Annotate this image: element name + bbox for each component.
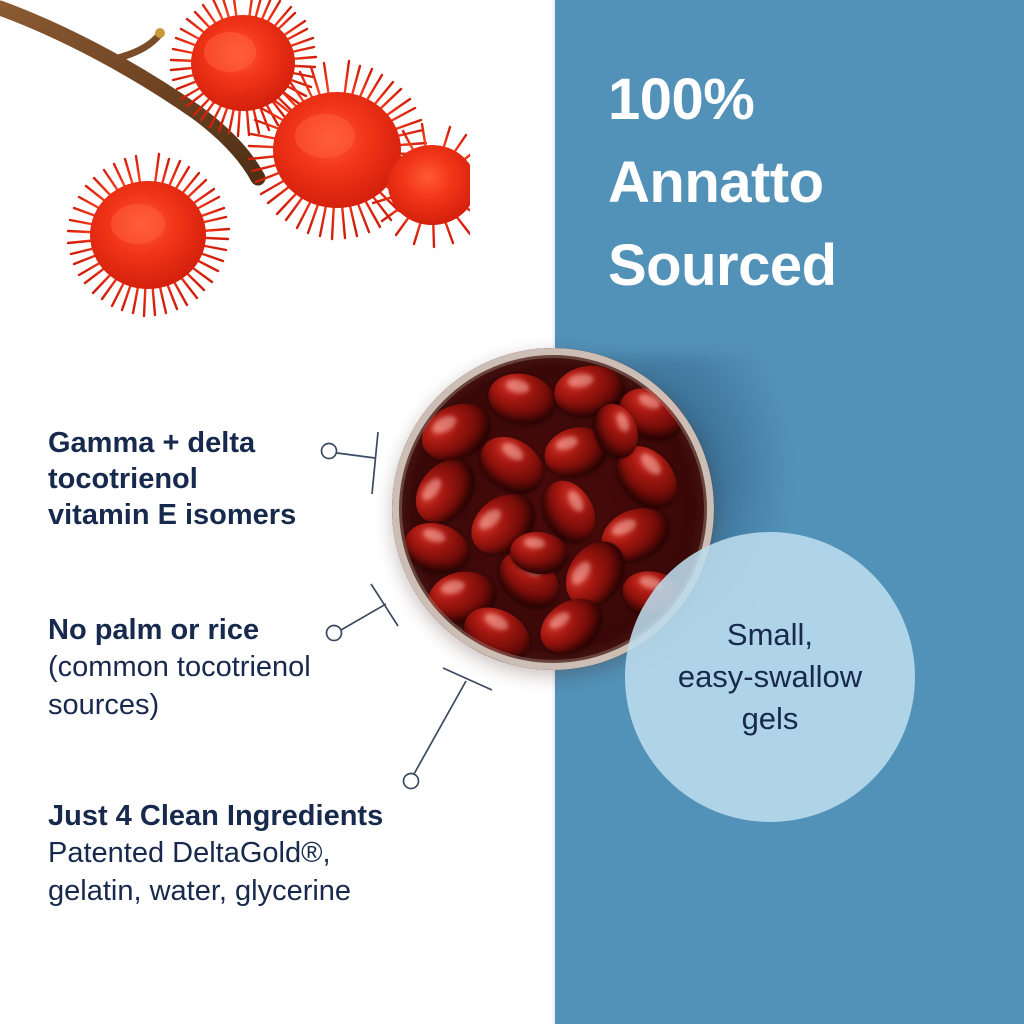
callout-1-line-1: Gamma + delta — [48, 425, 378, 461]
callout-no-palm-or-rice: No palm or rice (common tocotrienol sour… — [48, 612, 388, 724]
callout-2-line-1: No palm or rice — [48, 612, 388, 648]
badge-line-2: easy-swallow — [678, 656, 862, 698]
leader-dot-3 — [404, 774, 419, 789]
callout-tocotrienol-isomers: Gamma + delta tocotrienol vitamin E isom… — [48, 425, 378, 533]
callout-3-line-1: Just 4 Clean Ingredients — [48, 798, 498, 834]
headline: 100% Annatto Sourced — [608, 58, 1008, 307]
callout-3-sub-1: Patented DeltaGold®, — [48, 834, 498, 872]
callout-1-line-3: vitamin E isomers — [48, 497, 378, 533]
badge-line-1: Small, — [727, 614, 813, 656]
callout-2-sub-2: sources) — [48, 686, 388, 724]
leader-tick-3 — [443, 668, 492, 690]
headline-line-1: 100% — [608, 58, 1008, 141]
callout-2-sub-1: (common tocotrienol — [48, 648, 388, 686]
annatto-pods-image — [0, 0, 470, 330]
callout-1-line-2: tocotrienol — [48, 461, 378, 497]
headline-line-3: Sourced — [608, 224, 1008, 307]
easy-swallow-badge-text: Small, easy-swallow gels — [625, 532, 915, 822]
infographic-canvas: Small, easy-swallow gels 100% Annatto So… — [0, 0, 1024, 1024]
badge-line-3: gels — [742, 698, 799, 740]
callout-clean-ingredients: Just 4 Clean Ingredients Patented DeltaG… — [48, 798, 498, 910]
headline-line-2: Annatto — [608, 141, 1008, 224]
callout-3-sub-2: gelatin, water, glycerine — [48, 872, 498, 910]
leader-line-3 — [414, 681, 466, 774]
